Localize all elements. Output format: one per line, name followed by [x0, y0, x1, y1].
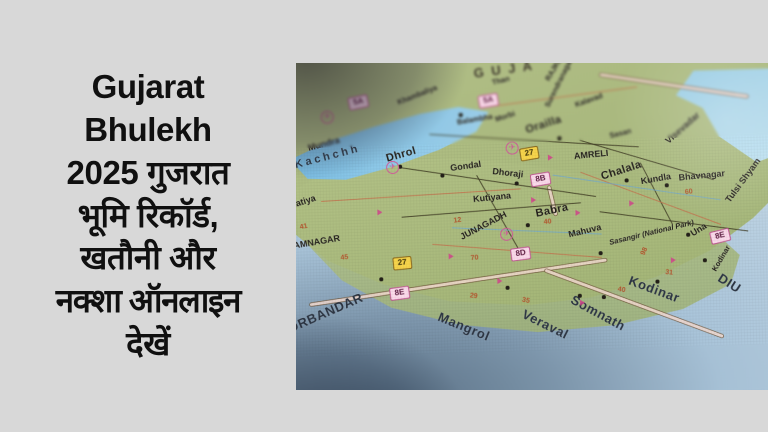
map-photo: G U J A Kachchh Mundra Khambaliya Ghatiy… — [296, 63, 768, 390]
distance-40-east: 40 — [617, 286, 626, 294]
marker-triangle-1 — [377, 209, 382, 215]
marker-triangle-6 — [548, 154, 553, 160]
city-dot-somnath — [602, 295, 606, 299]
headline-line-4: भूमि रिकॉर्ड, — [78, 195, 219, 238]
marker-triangle-7 — [629, 200, 634, 206]
distance-35: 35 — [521, 297, 530, 305]
city-dot-kundla — [665, 183, 669, 187]
distance-70: 70 — [470, 254, 478, 262]
distance-45: 45 — [340, 254, 349, 262]
map-photo-inner: G U J A Kachchh Mundra Khambaliya Ghatiy… — [296, 63, 768, 390]
distance-29: 29 — [469, 292, 478, 300]
city-dot-una — [703, 258, 707, 262]
city-dot-rajkot — [557, 136, 561, 140]
headline-line-2: Bhulekh — [84, 109, 211, 152]
marker-triangle-4 — [531, 197, 536, 203]
marker-triangle-8 — [671, 257, 676, 263]
city-dot-veraval — [578, 294, 582, 298]
city-dot-porbandar — [379, 277, 383, 281]
headline-line-7: देखें — [126, 323, 170, 366]
city-dot-kodinar — [655, 280, 659, 284]
city-dot-dhrol — [459, 113, 463, 117]
headline-line-5: खतौनी और — [80, 237, 215, 280]
city-dot-visevadar — [599, 251, 603, 255]
city-dot-kalavad — [440, 174, 444, 178]
city-dot-gondal — [515, 181, 519, 185]
city-dot-amreli — [625, 178, 629, 182]
distance-12: 12 — [453, 217, 462, 225]
city-dot-tulsi-shyam — [686, 233, 690, 237]
shield-sh-8e-west: 8E — [389, 286, 410, 301]
page-title: Gujarat Bhulekh 2025 गुजरात भूमि रिकॉर्ड… — [0, 0, 296, 432]
marker-triangle-5 — [575, 210, 580, 216]
marker-triangle-9 — [580, 300, 585, 306]
banner: Gujarat Bhulekh 2025 गुजरात भूमि रिकॉर्ड… — [0, 0, 768, 432]
headline-line-1: Gujarat — [92, 66, 205, 109]
distance-31: 31 — [665, 269, 674, 277]
distance-40: 40 — [543, 218, 551, 226]
headline-line-3: 2025 गुजरात — [67, 152, 230, 195]
shield-nh-27-west: 27 — [392, 256, 412, 271]
shield-sh-8d: 8D — [510, 246, 532, 261]
distance-60: 60 — [685, 188, 694, 196]
city-dot-mangrol — [506, 286, 510, 290]
marker-triangle-3 — [497, 278, 502, 284]
headline-line-6: नक्शा ऑनलाइन — [56, 280, 240, 323]
city-dot-junagadh — [526, 223, 530, 227]
marker-triangle-2 — [449, 253, 454, 259]
